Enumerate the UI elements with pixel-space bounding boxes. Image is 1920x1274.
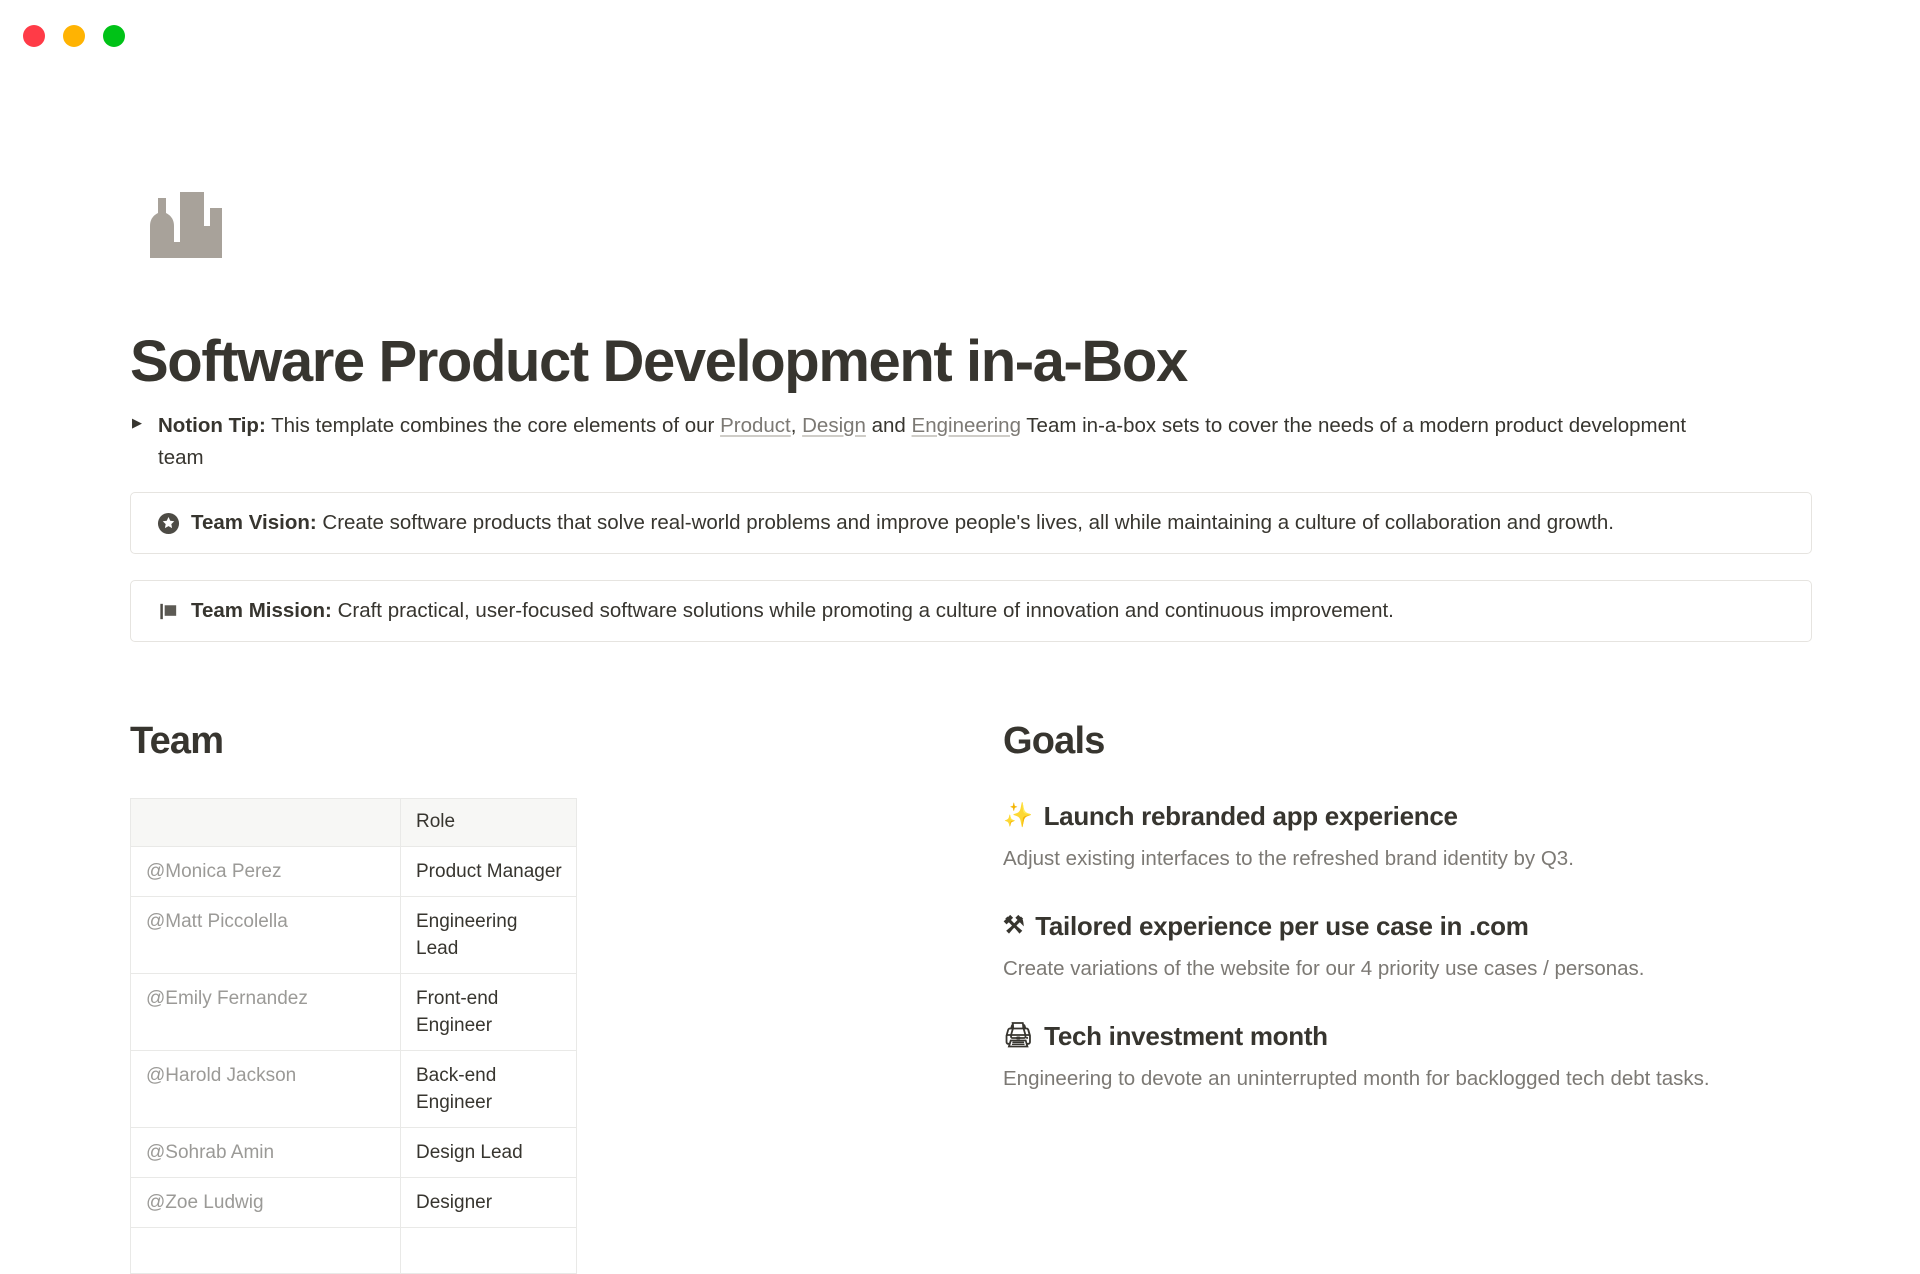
goals-column: Goals ✨ Launch rebranded app experience … (1003, 720, 1823, 1128)
goal-item: ✨ Launch rebranded app experience Adjust… (1003, 798, 1823, 874)
cell-member-role[interactable]: Product Manager (401, 847, 577, 897)
page-title: Software Product Development in-a-Box (130, 330, 1187, 394)
goals-heading: Goals (1003, 720, 1823, 763)
goal-title: Tailored experience per use case in .com (1035, 908, 1528, 944)
cell-member-name[interactable]: @Matt Piccolella (131, 897, 401, 974)
link-design[interactable]: Design (802, 414, 866, 437)
cell-member-role[interactable]: Design Lead (401, 1128, 577, 1178)
cell-member-name[interactable]: @Monica Perez (131, 847, 401, 897)
cell-member-role[interactable]: Designer (401, 1178, 577, 1228)
cell-member-name[interactable]: @Emily Fernandez (131, 974, 401, 1051)
column-header-name[interactable] (131, 799, 401, 847)
notion-tip-toggle[interactable]: ▶ Notion Tip: This template combines the… (132, 410, 1822, 474)
cell-member-name[interactable]: @Zoe Ludwig (131, 1178, 401, 1228)
goal-title-row: ⚒ Tailored experience per use case in .c… (1003, 908, 1823, 944)
chevron-right-icon[interactable]: ▶ (132, 410, 158, 429)
notion-tip-label: Notion Tip: (158, 414, 266, 437)
callout-mission-label: Team Mission: (191, 599, 332, 622)
callout-mission-body: Craft practical, user-focused software s… (332, 599, 1394, 622)
team-table: Role @Monica Perez Product Manager @Matt… (130, 798, 577, 1274)
goal-title: Tech investment month (1044, 1018, 1328, 1054)
goal-description: Adjust existing interfaces to the refres… (1003, 844, 1823, 874)
table-row[interactable] (131, 1228, 577, 1274)
callout-vision-label: Team Vision: (191, 511, 317, 534)
star-badge-icon (157, 510, 191, 536)
sparkles-icon: ✨ (1003, 804, 1033, 828)
cell-member-role[interactable]: Engineering Lead (401, 897, 577, 974)
link-product[interactable]: Product (720, 414, 791, 437)
callout-team-mission: Team Mission: Craft practical, user-focu… (130, 580, 1812, 642)
cell-member-name[interactable]: @Sohrab Amin (131, 1128, 401, 1178)
callout-vision-text: Team Vision: Create software products th… (191, 509, 1614, 537)
tip-and: and (866, 414, 912, 437)
column-header-role[interactable]: Role (401, 799, 577, 847)
cell-member-name[interactable]: @Harold Jackson (131, 1051, 401, 1128)
page-content: Software Product Development in-a-Box ▶ … (0, 0, 1920, 1200)
goal-description: Engineering to devote an uninterrupted m… (1003, 1064, 1823, 1094)
goal-title-row: ✨ Launch rebranded app experience (1003, 798, 1823, 834)
team-column: Team Role @Monica Perez Product Manager … (130, 720, 830, 1274)
goal-title-row: 🖨 Tech investment month (1003, 1018, 1823, 1054)
goal-item: ⚒ Tailored experience per use case in .c… (1003, 908, 1823, 984)
link-engineering[interactable]: Engineering (912, 414, 1021, 437)
table-row[interactable]: @Zoe Ludwig Designer (131, 1178, 577, 1228)
table-row[interactable]: @Harold Jackson Back-end Engineer (131, 1051, 577, 1128)
flag-icon (157, 598, 191, 624)
callout-vision-body: Create software products that solve real… (317, 511, 1614, 534)
notion-tip-text: Notion Tip: This template combines the c… (158, 410, 1688, 474)
table-row[interactable]: @Emily Fernandez Front-end Engineer (131, 974, 577, 1051)
goal-title: Launch rebranded app experience (1044, 798, 1458, 834)
cell-member-name[interactable] (131, 1228, 401, 1274)
printer-icon: 🖨 (1003, 1024, 1033, 1048)
table-row[interactable]: @Monica Perez Product Manager (131, 847, 577, 897)
tip-comma: , (791, 414, 802, 437)
goal-description: Create variations of the website for our… (1003, 954, 1823, 984)
team-heading: Team (130, 720, 830, 763)
table-header-row: Role (131, 799, 577, 847)
table-row[interactable]: @Matt Piccolella Engineering Lead (131, 897, 577, 974)
buildings-icon[interactable] (146, 180, 222, 258)
callout-team-vision: Team Vision: Create software products th… (130, 492, 1812, 554)
hammer-and-pick-icon: ⚒ (1003, 914, 1024, 938)
cell-member-role[interactable]: Front-end Engineer (401, 974, 577, 1051)
callout-mission-text: Team Mission: Craft practical, user-focu… (191, 597, 1394, 625)
goal-item: 🖨 Tech investment month Engineering to d… (1003, 1018, 1823, 1094)
cell-member-role[interactable] (401, 1228, 577, 1274)
tip-before-links: This template combines the core elements… (266, 414, 720, 437)
table-row[interactable]: @Sohrab Amin Design Lead (131, 1128, 577, 1178)
cell-member-role[interactable]: Back-end Engineer (401, 1051, 577, 1128)
